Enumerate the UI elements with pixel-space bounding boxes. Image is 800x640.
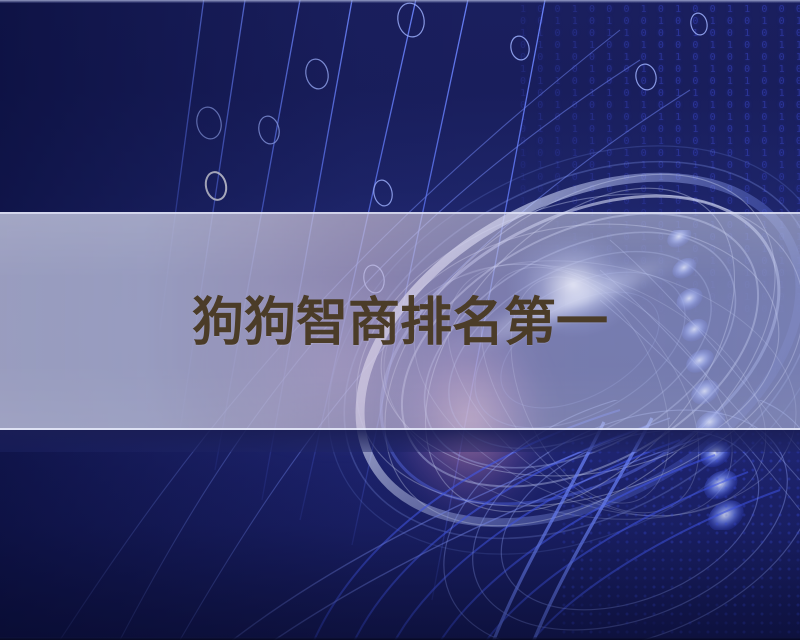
title-container: 狗狗智商排名第一 <box>0 212 800 430</box>
dot-grid-graphic <box>560 430 800 640</box>
poster-canvas: 0 1 0 0 1 0 1 1 0 0 1 0 0 1 1 0 1 0 0 11… <box>0 0 800 640</box>
page-title: 狗狗智商排名第一 <box>192 297 608 349</box>
banner-shadow-strip <box>0 430 800 452</box>
top-edge-line <box>0 0 800 3</box>
